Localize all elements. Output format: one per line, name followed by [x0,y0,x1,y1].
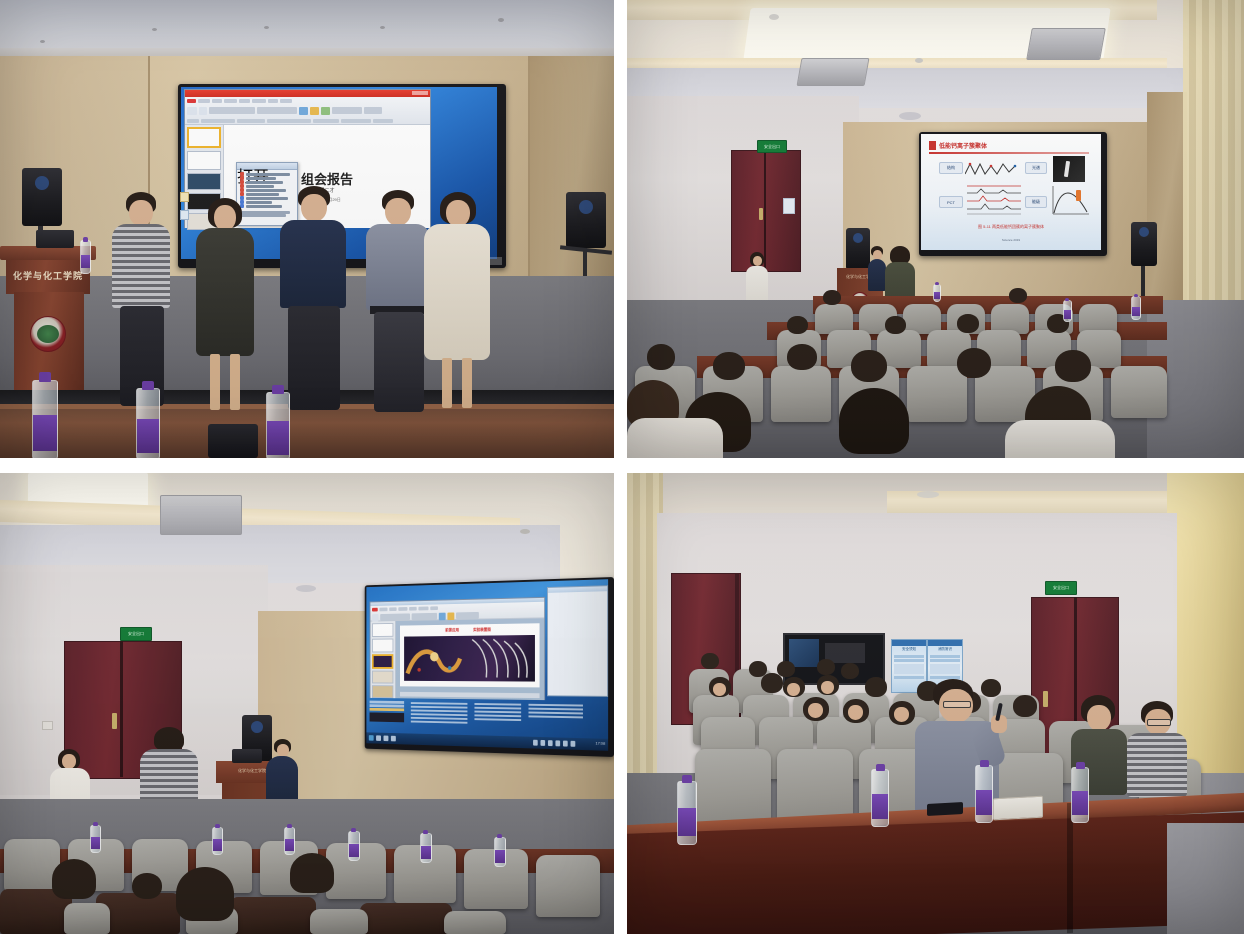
loudspeaker-left [22,168,62,226]
water-bottle [90,825,101,853]
person-2 [188,198,264,412]
dialog-titlebar[interactable]: 打开 [237,163,297,170]
presentation-slide: 低能钙离子簇聚体 结构 光谱 PCT [921,134,1101,250]
audience-face [848,705,863,720]
exit-sign-text: 安全出口 [121,628,151,640]
seat-front-grey [444,911,506,934]
powerpoint-window[interactable]: 前景应用 实验装置图 [370,597,546,700]
ceiling-light-icon [380,26,385,29]
slide-thumbnail[interactable] [187,151,221,170]
university-emblem [30,316,66,352]
water-bottle [420,833,432,863]
water-bottle [266,392,290,458]
slide-thumbnail[interactable] [187,173,221,190]
door-notice [783,198,795,214]
audience-face [894,707,909,722]
seat [536,855,600,917]
exit-sign-text: 安全出口 [758,141,786,152]
person-5 [418,192,500,410]
audience-face [713,683,726,696]
podium-sign-panel: 化学与化工学院 [6,260,90,294]
laptop [36,230,74,248]
seat [1111,366,1167,418]
seat [771,366,831,422]
wall-display: 低能钙离子簇聚体 结构 光谱 PCT [919,132,1107,256]
water-bottle [348,831,360,861]
audience-head [817,659,835,675]
water-bottle [933,284,941,302]
water-bottle [284,827,295,855]
water-bottle [1063,300,1072,322]
audience-face [808,703,823,718]
photo-top-left: 组会报告 潘二才 2019年6月29日 打开 [0,0,614,458]
audience-head [132,873,162,899]
ribbon-group-row[interactable] [185,105,430,116]
ceiling-light-icon [152,28,157,31]
audience-head [1055,350,1091,382]
secondary-window[interactable] [547,585,608,697]
ribbon-tabs[interactable] [185,97,430,105]
water-bottle [32,380,58,458]
molecule-diagram-icon [965,158,1019,180]
slide-thumbnail[interactable] [187,127,221,148]
laptop [232,749,262,763]
seat-front [360,903,452,934]
ceiling-speaker-icon [899,112,921,120]
eyeglasses-icon [943,701,971,708]
table-front-panel [627,812,1244,934]
exit-sign: 安全出口 [1045,581,1077,595]
smartphone [927,802,963,816]
audience-head-near [839,388,909,454]
audience-head [761,673,783,693]
notebook [993,796,1043,821]
slide-caption: 图 5-11 两类低能钙团簇的离子簇聚体 [921,224,1101,230]
audience-face [821,681,834,694]
audience-head [647,344,675,370]
audience-shoulders [1005,420,1115,458]
photo-top-right: 安全出口 低能钙离子簇聚体 结构 光谱 [627,0,1244,458]
podium-sign-text: 化学与化工学院 [6,260,90,282]
audience-face [787,683,800,696]
slide-heading-2: 实验装置图 [473,627,491,633]
person-1 [104,192,180,406]
door-handle-icon[interactable] [1043,691,1048,707]
seat-front-grey [64,903,110,934]
audience-head [777,661,795,677]
water-bottle [1071,767,1089,823]
exit-sign: 安全出口 [120,627,152,641]
slide-footer: Science 2019 [921,238,1101,242]
slide-box-spectrum: 光谱 [1025,162,1047,174]
exit-sign-text: 安全出口 [1046,582,1076,594]
water-bottle [677,781,697,845]
file-list-item[interactable] [238,172,296,176]
ceiling-light-icon [520,529,530,534]
air-vent [1026,28,1106,60]
air-vent [797,58,870,86]
taskbar[interactable]: 17:08 [366,732,608,750]
window-curtain [1183,0,1244,340]
loudspeaker-right [1131,222,1157,266]
ceiling-light-icon [40,40,45,43]
floor-right [1167,823,1244,934]
desktop-background: 前景应用 实验装置图 [366,579,608,751]
spectra-chart-icon [965,184,1023,218]
slide-statusbar [400,692,540,698]
slide-micrograph [1053,156,1085,182]
wall-display: 前景应用 实验装置图 [365,577,614,757]
ceiling-speaker-icon [296,585,316,592]
audience-head [701,653,719,669]
person-3 [272,186,356,410]
black-bag [208,424,258,458]
window-titlebar[interactable] [185,90,430,97]
seated-man-gesturing [913,679,1033,815]
door-handle-icon[interactable] [112,713,117,729]
audience-head [787,316,808,334]
audience-head [823,290,841,305]
audience-head [841,663,859,679]
slide-box-energy: 能级 [1025,196,1047,208]
ceiling-light-icon [264,26,269,29]
ceiling-light-icon [498,18,504,22]
audience-head [957,348,991,378]
audience-head [865,677,887,697]
slide-box-pct: PCT [939,196,963,208]
exit-sign: 安全出口 [757,140,787,153]
audience-head [885,316,906,334]
taskbar-clock: 17:08 [595,740,605,745]
audience-head [1009,288,1027,303]
audience-head [176,867,234,921]
wall-switch[interactable] [42,721,53,730]
seated-man-right [1125,701,1193,797]
window-titlebar[interactable] [548,586,607,593]
desktop-text-overlay [370,700,601,733]
smoke-detector-icon [769,14,779,20]
stage-front-wood [0,404,614,458]
water-bottle [1131,296,1141,320]
audience-head [957,314,979,333]
slide-box-structure: 结构 [939,162,963,174]
audience-head [52,859,96,899]
smoke-detector-icon [915,58,923,63]
slide-canvas[interactable]: 前景应用 实验装置图 [396,618,544,700]
loudspeaker-right [566,192,606,248]
right-wall-wood [1147,92,1187,322]
seat-front-grey [310,909,368,934]
audience-head [290,853,334,893]
slide-image [404,635,535,682]
water-bottle [494,837,506,867]
door-split [120,641,123,777]
slide-heading-1: 前景应用 [445,627,459,633]
presenter-at-podium [867,246,887,296]
photo-bottom-left: 安全出口 [0,473,614,934]
eyeglasses-icon [1147,719,1171,726]
audience-head [787,344,817,370]
ceiling-light-icon [917,491,939,498]
photo-collage: 组会报告 潘二才 2019年6月29日 打开 [0,0,1244,934]
window-controls[interactable] [412,91,428,95]
water-bottle [871,769,889,827]
seat-front [230,897,316,934]
audience-head [713,352,745,380]
water-bottle [80,240,91,274]
audience-head [851,350,887,382]
photo-bottom-right: 安全出口 安全须知 消防常识 [627,473,1244,934]
curve-chart-icon [1049,184,1091,218]
air-vent [160,495,242,535]
door-handle-icon[interactable] [759,208,763,220]
water-bottle [975,765,993,823]
water-bottle [212,827,223,855]
audience-shoulders [627,418,723,458]
seat [907,366,967,422]
water-bottle [136,388,160,458]
slide-heading: 低能钙离子簇聚体 [939,141,987,150]
